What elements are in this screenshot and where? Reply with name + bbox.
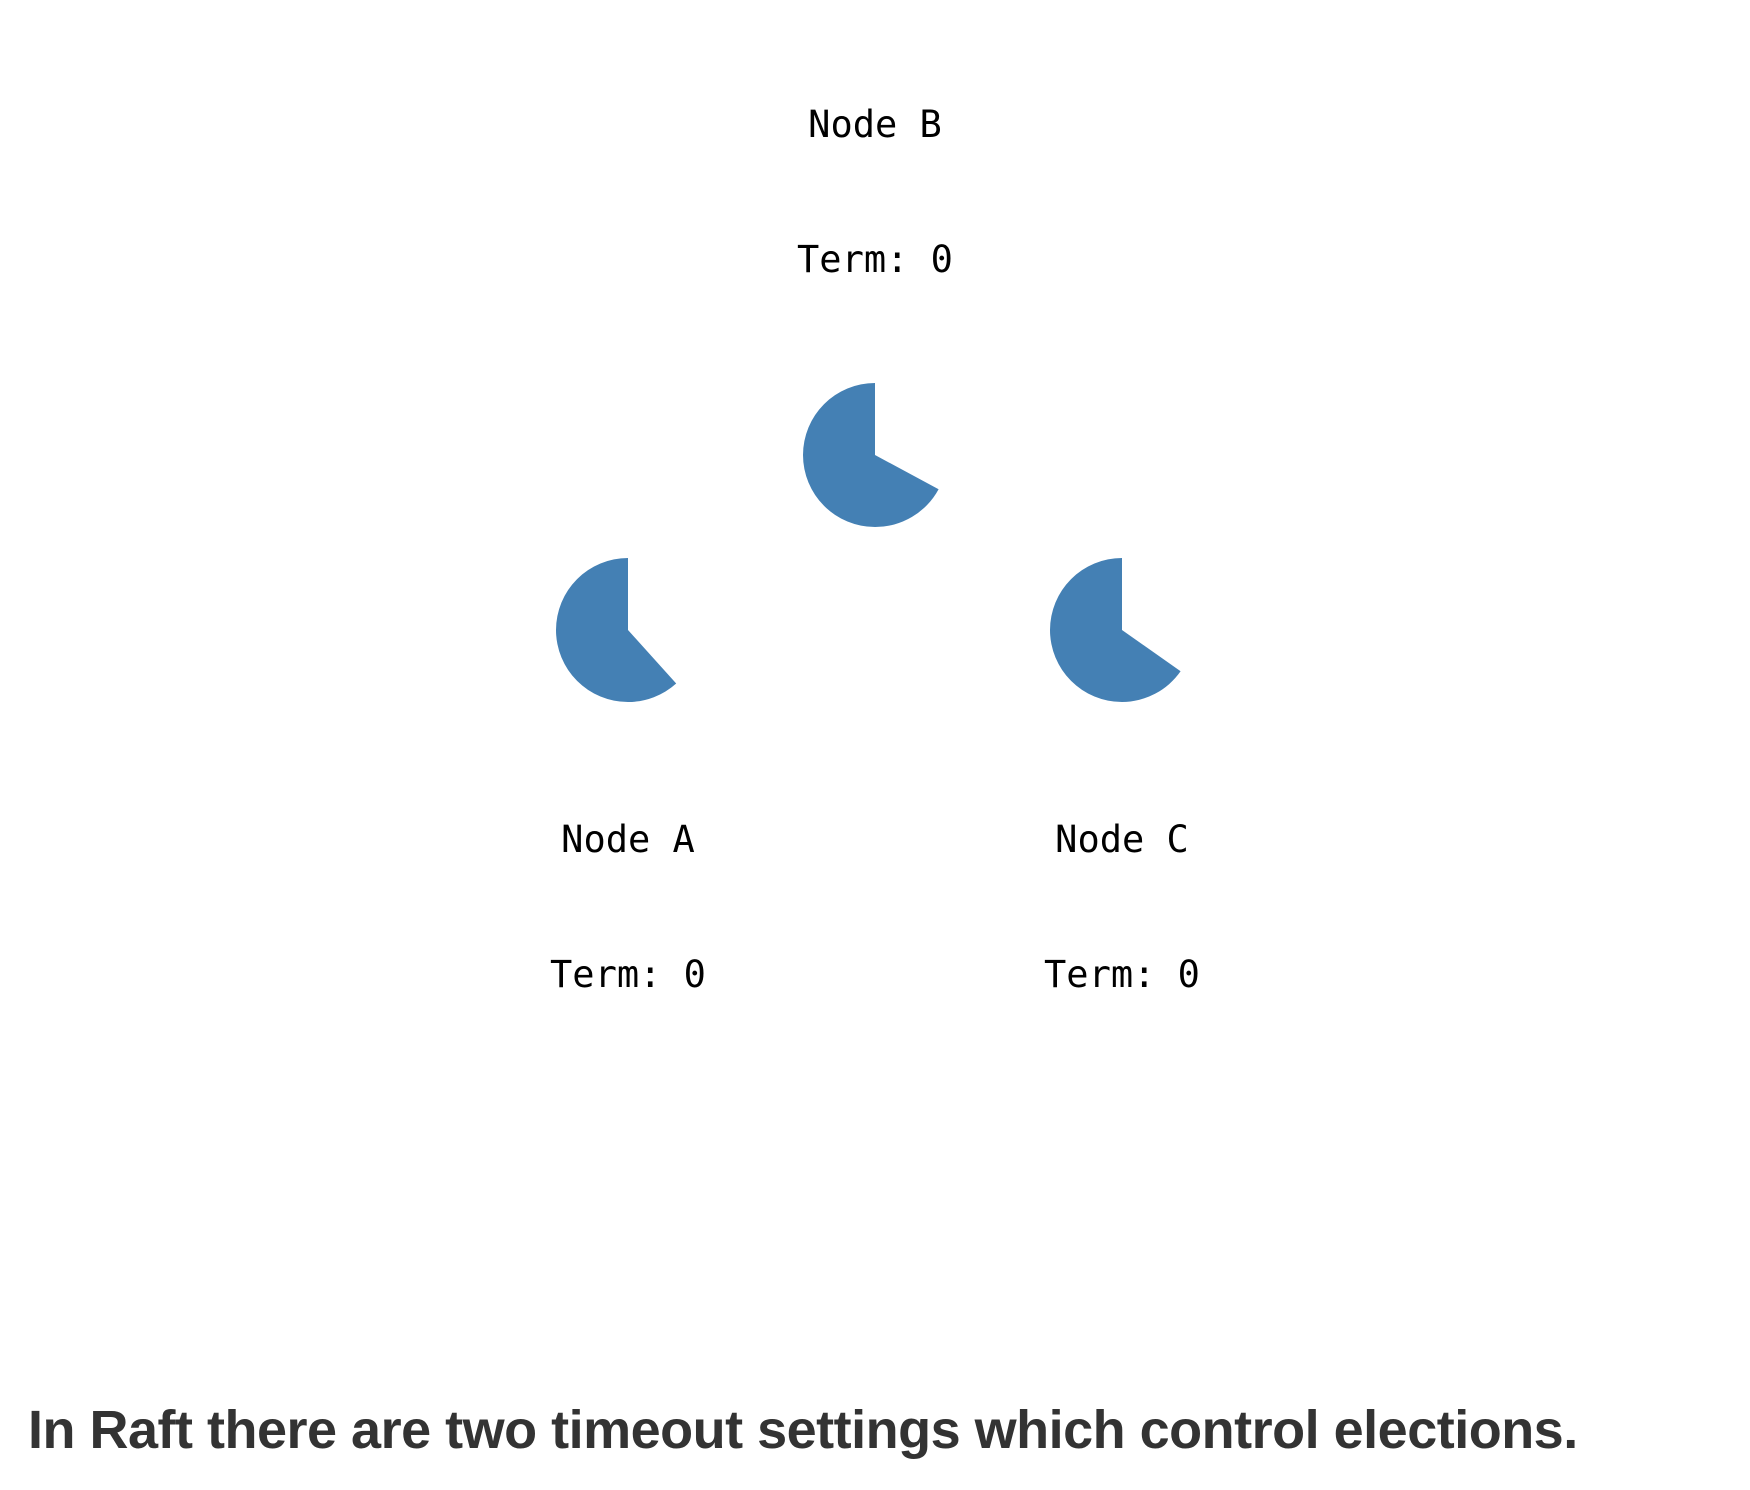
node-b-timer-circle-icon[interactable]: [795, 375, 955, 535]
raft-cluster-canvas: Node B Term: 0 Node A Term: 0: [0, 0, 1750, 1300]
node-c-label: Node C Term: 0: [972, 727, 1272, 1087]
node-c-term: Term: 0: [972, 952, 1272, 997]
cluster-node-a[interactable]: Node A Term: 0: [478, 555, 778, 1087]
node-c-timer-circle-icon[interactable]: [1042, 550, 1202, 710]
node-a-term: Term: 0: [478, 952, 778, 997]
node-a-label: Node A Term: 0: [478, 727, 778, 1087]
raft-visualization-stage: Node B Term: 0 Node A Term: 0: [0, 0, 1750, 1490]
caption-text: In Raft there are two timeout settings w…: [28, 1398, 1728, 1462]
node-b-label: Node B Term: 0: [725, 12, 1025, 372]
node-a-name: Node A: [478, 817, 778, 862]
cluster-node-c[interactable]: Node C Term: 0: [972, 555, 1272, 1087]
node-a-shape-wrap: [478, 555, 778, 705]
cluster-node-b[interactable]: Node B Term: 0: [725, 12, 1025, 530]
node-b-shape-wrap: [725, 380, 1025, 530]
node-c-name: Node C: [972, 817, 1272, 862]
node-a-timer-circle-icon[interactable]: [548, 550, 708, 710]
node-b-term: Term: 0: [725, 237, 1025, 282]
node-c-shape-wrap: [972, 555, 1272, 705]
node-b-name: Node B: [725, 102, 1025, 147]
